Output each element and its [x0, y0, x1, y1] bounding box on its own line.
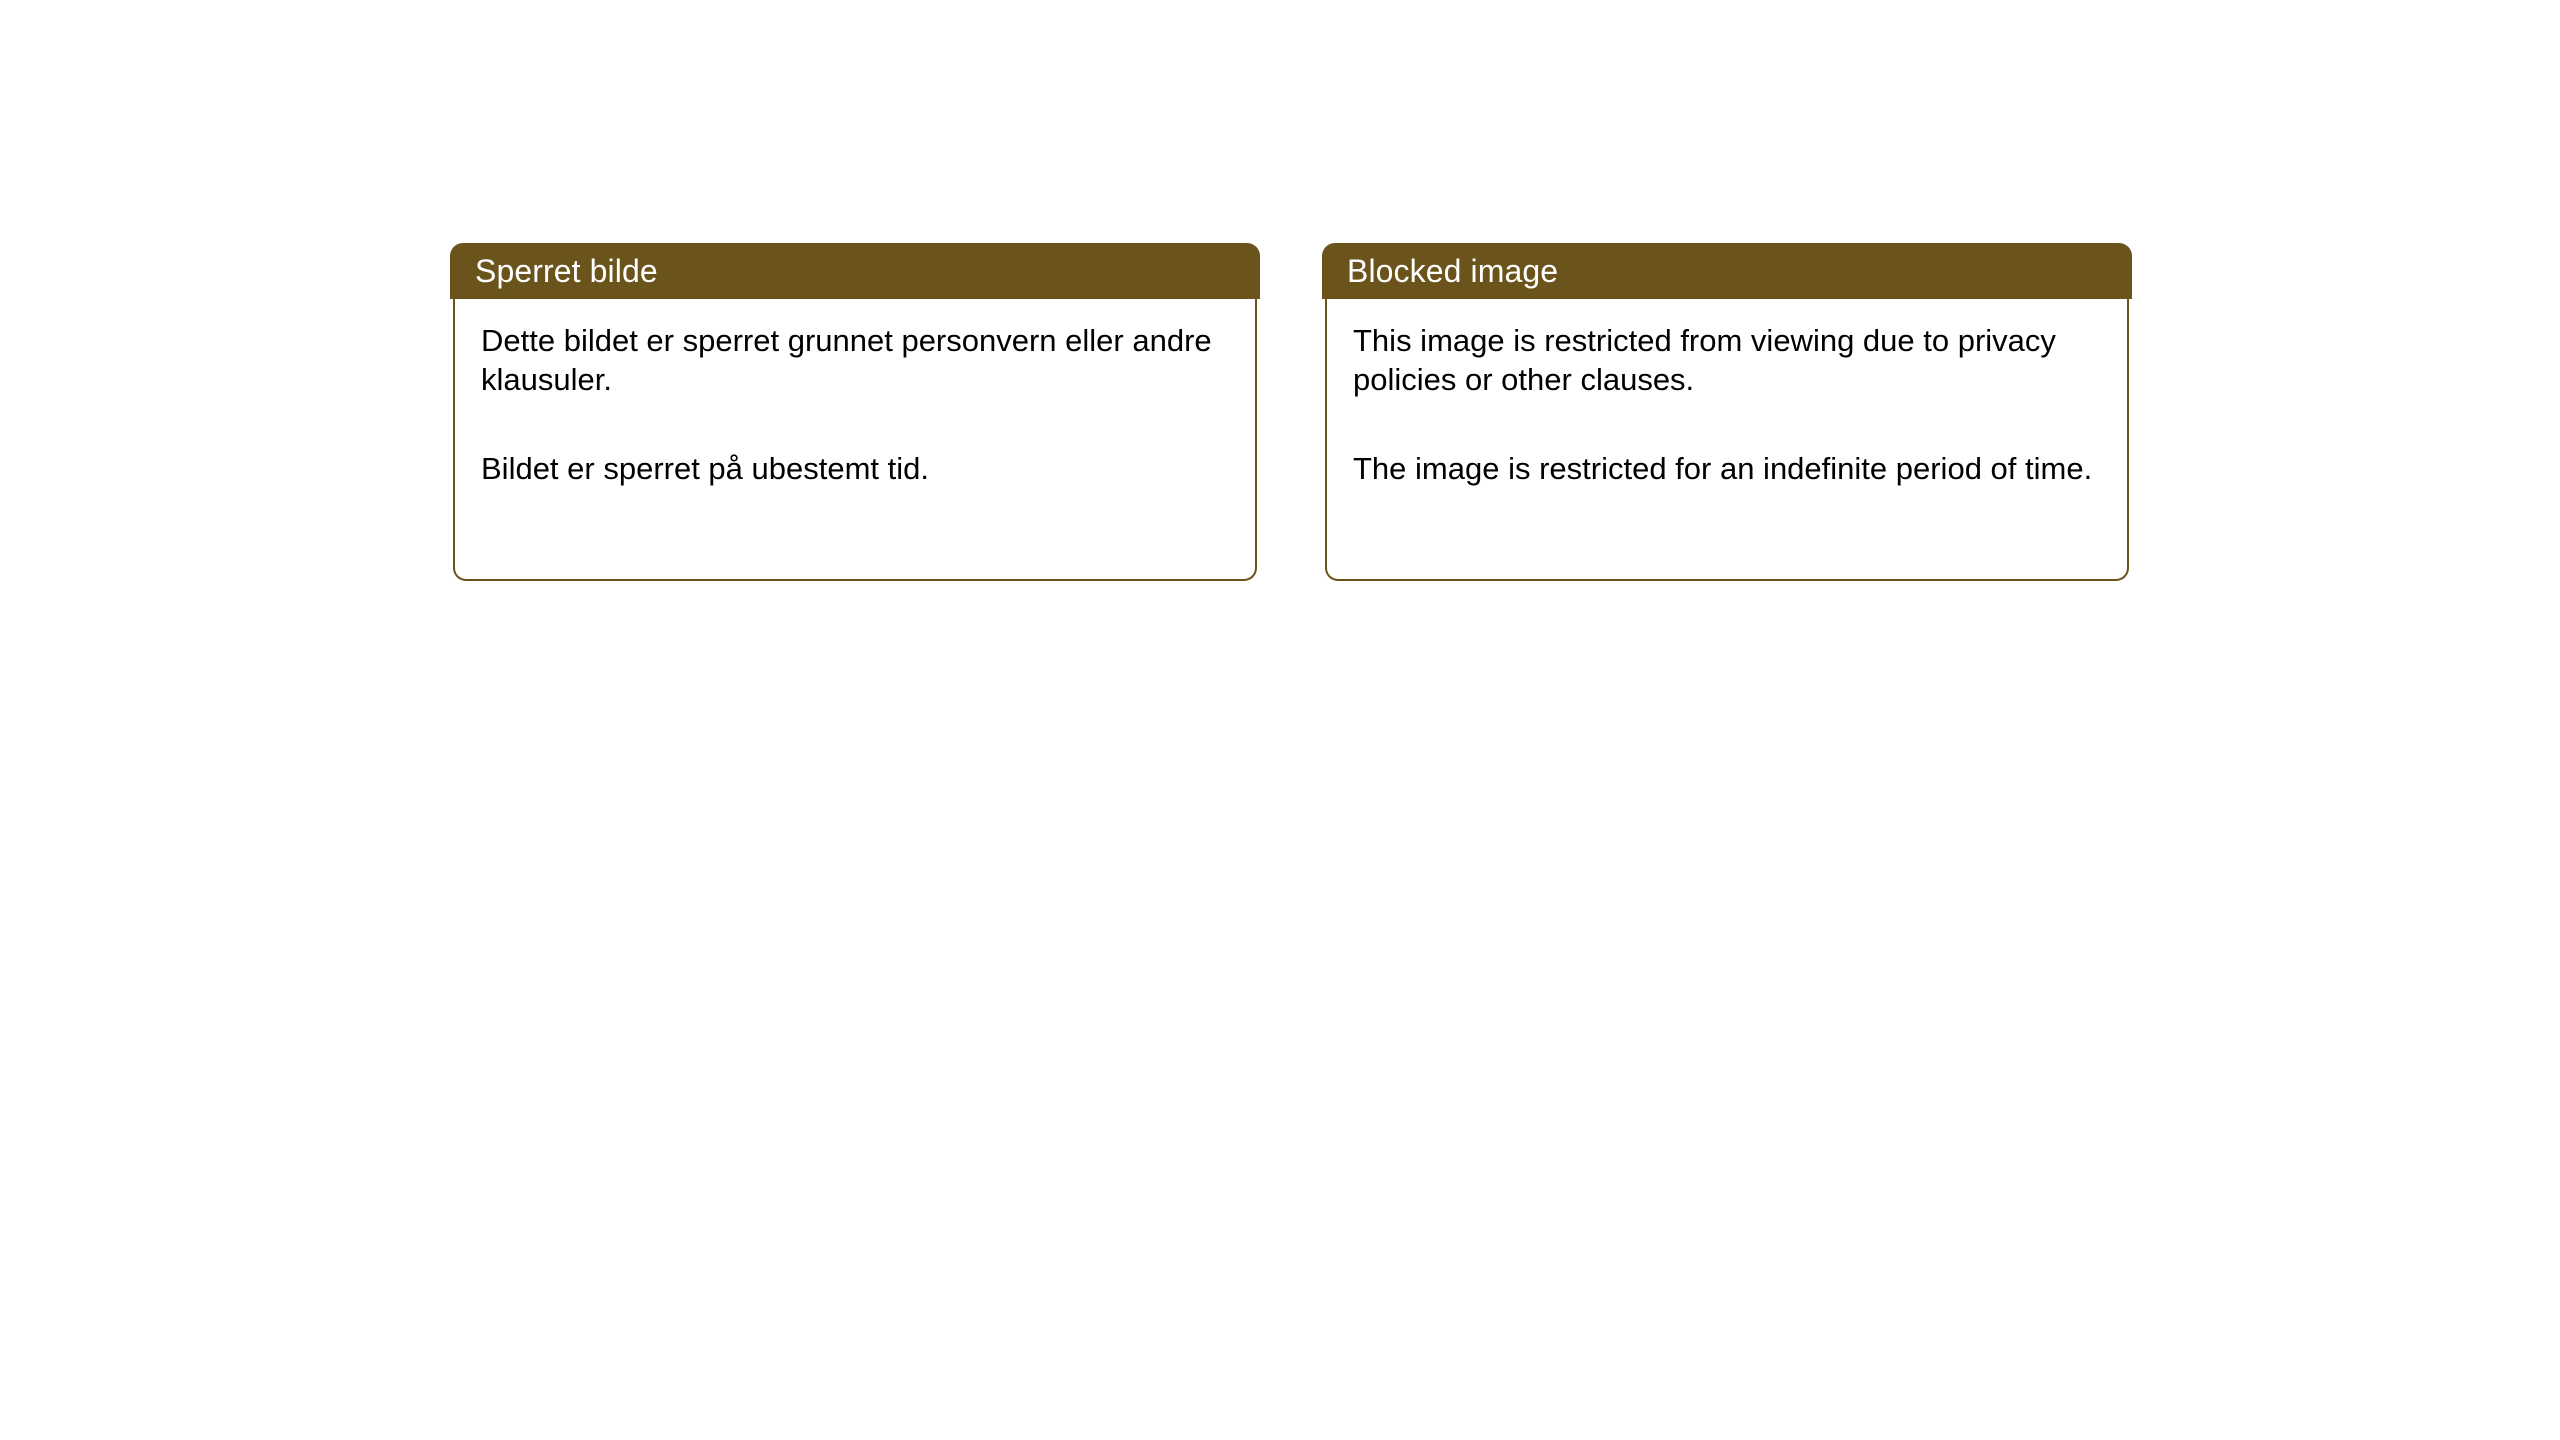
card-header-no: Sperret bilde	[450, 243, 1260, 299]
notice-cards-container: Sperret bilde Dette bildet er sperret gr…	[450, 243, 2132, 581]
page-canvas: Sperret bilde Dette bildet er sperret gr…	[0, 0, 2560, 1440]
blocked-image-notice-card-en: Blocked image This image is restricted f…	[1322, 243, 2132, 581]
card-title-en: Blocked image	[1347, 255, 1558, 287]
card-paragraph-duration-en: The image is restricted for an indefinit…	[1353, 449, 2101, 488]
card-header-en: Blocked image	[1322, 243, 2132, 299]
card-paragraph-privacy-en: This image is restricted from viewing du…	[1353, 321, 2101, 399]
card-paragraph-duration-no: Bildet er sperret på ubestemt tid.	[481, 449, 1229, 488]
card-title-no: Sperret bilde	[475, 255, 658, 287]
card-body-no: Dette bildet er sperret grunnet personve…	[453, 299, 1257, 581]
blocked-image-notice-card-no: Sperret bilde Dette bildet er sperret gr…	[450, 243, 1260, 581]
card-paragraph-privacy-no: Dette bildet er sperret grunnet personve…	[481, 321, 1229, 399]
card-body-en: This image is restricted from viewing du…	[1325, 299, 2129, 581]
